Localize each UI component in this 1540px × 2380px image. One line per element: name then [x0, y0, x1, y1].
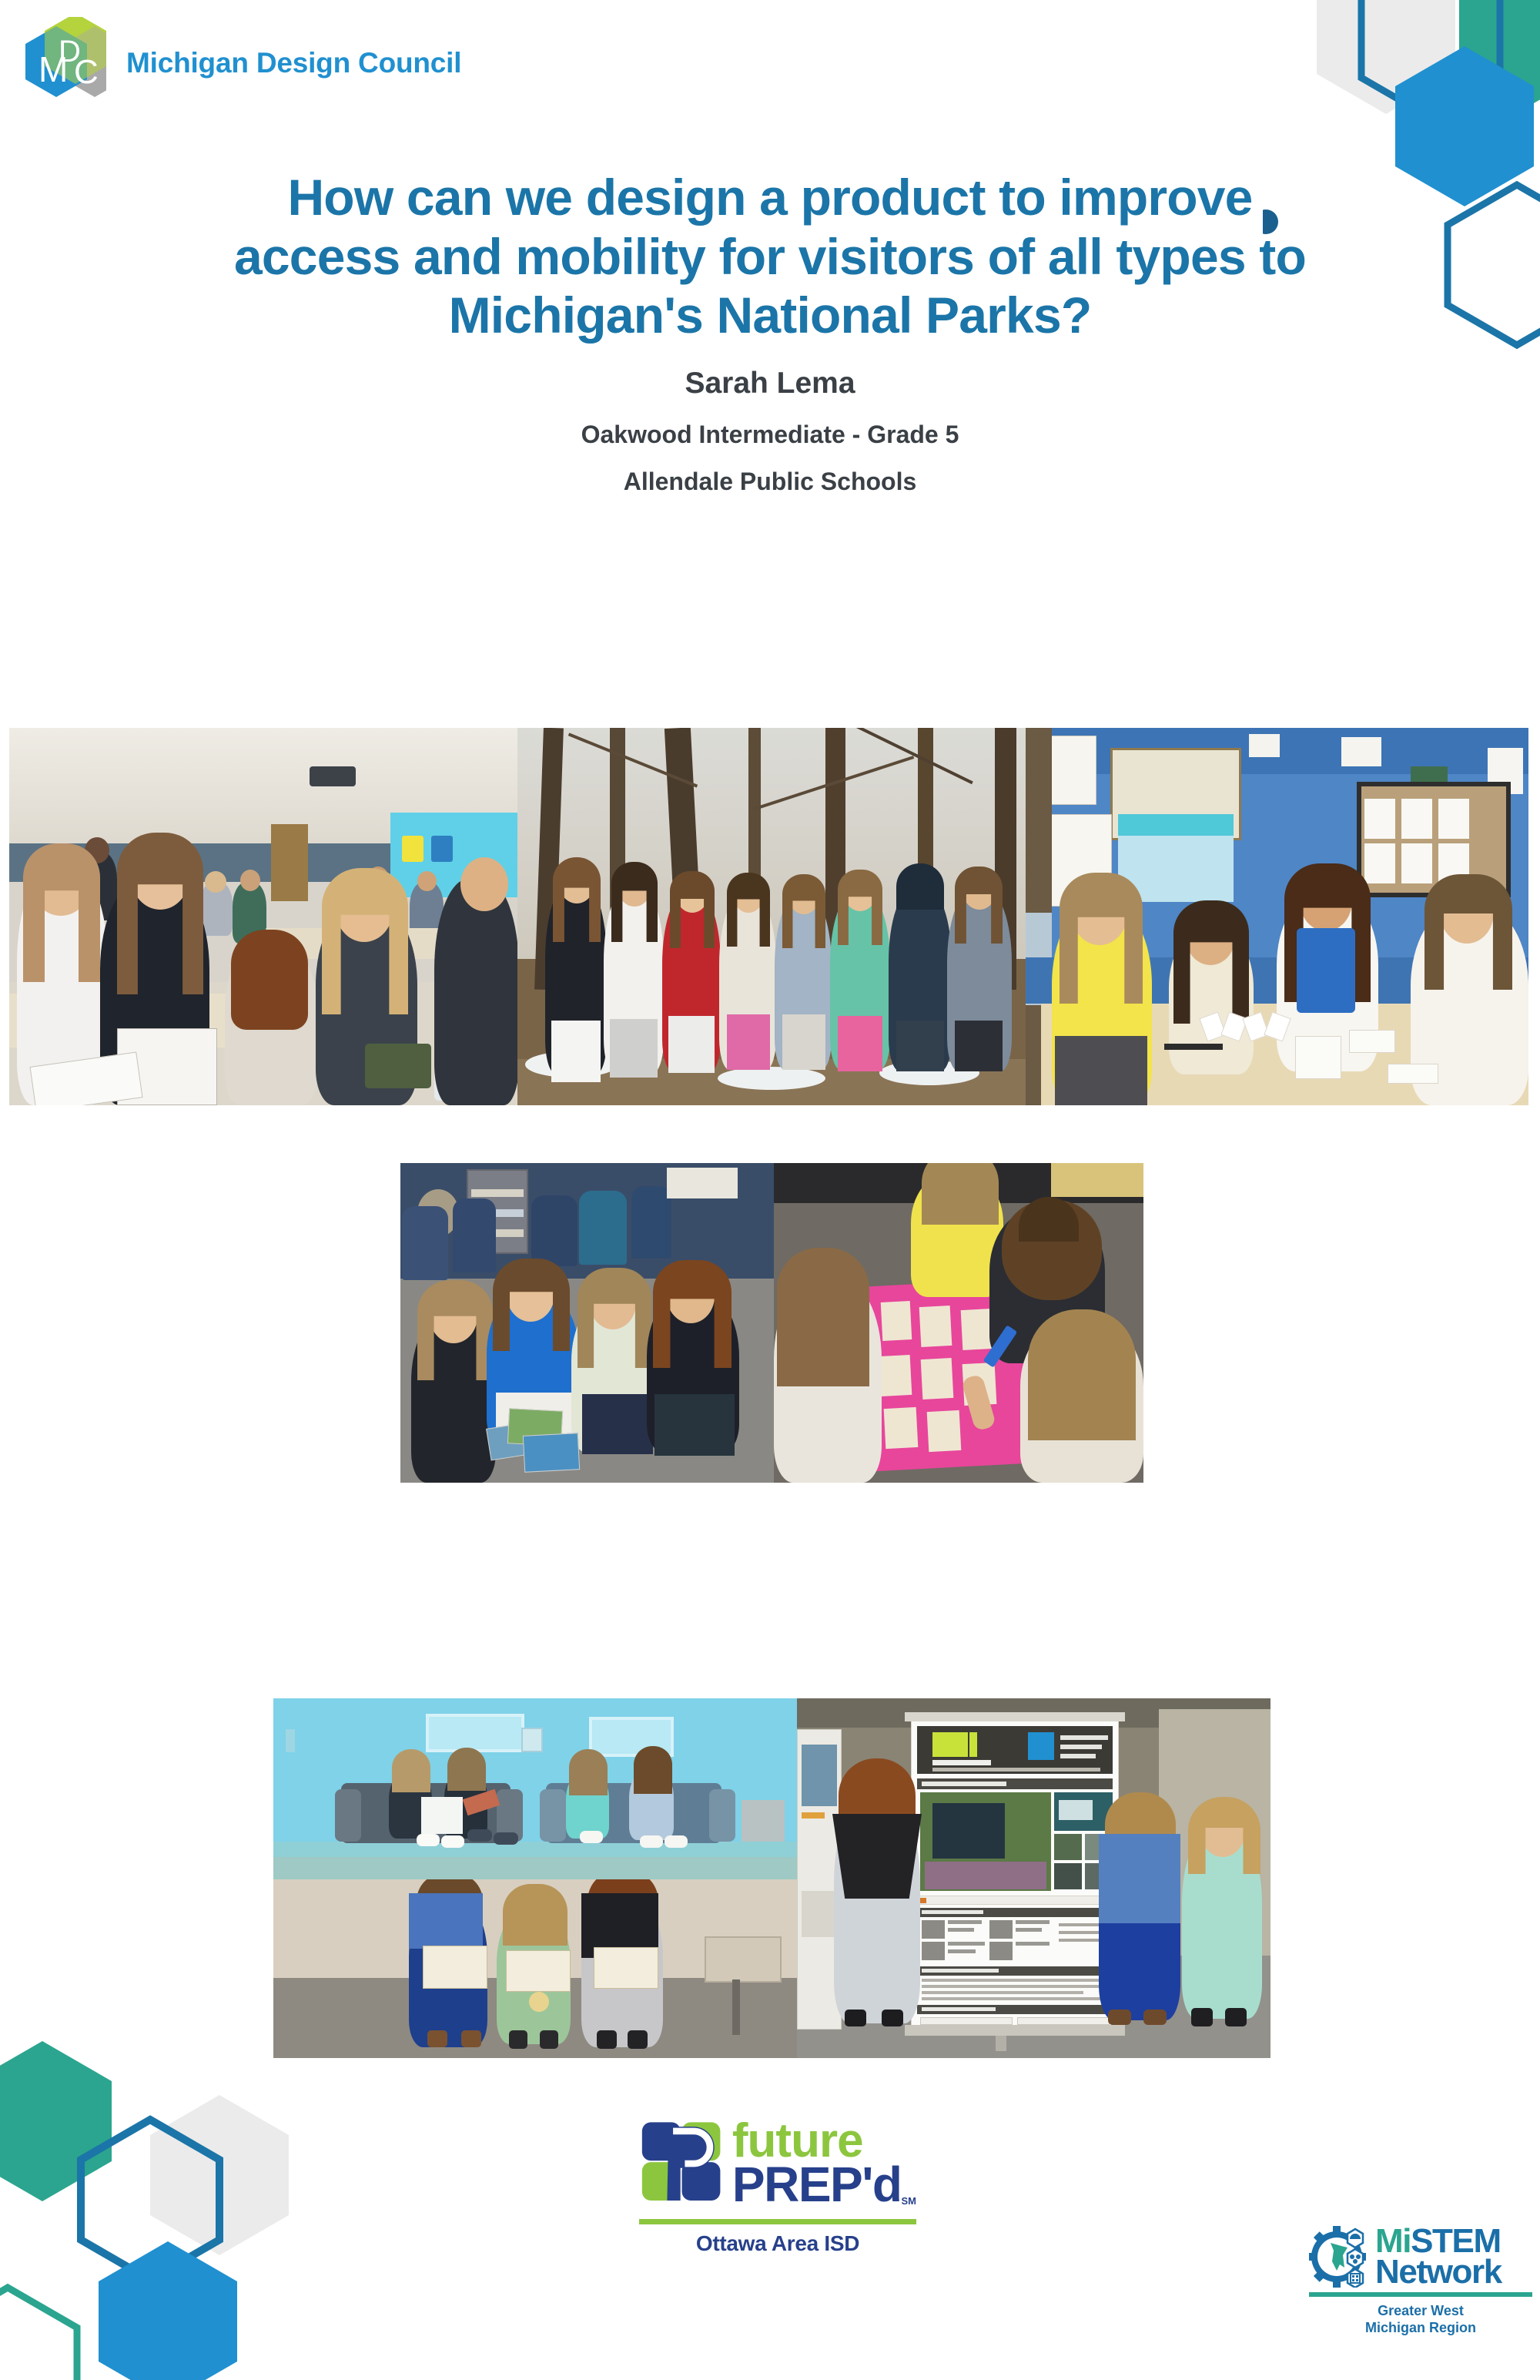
hexagon-teal — [1459, 0, 1540, 106]
photo-group-bottom — [273, 1698, 1270, 2058]
photo-row-top — [9, 728, 1528, 1105]
hexagon-outline-teal-bl — [0, 2288, 77, 2380]
futureprepd-subtitle: Ottawa Area ISD — [639, 2231, 916, 2256]
futureprepd-word-prepd: PREP'd — [732, 2163, 902, 2207]
mdc-hexagon-logo: M D C — [22, 17, 106, 109]
svg-text:C: C — [74, 53, 99, 91]
brand-header: M D C Michigan Design Council — [22, 17, 461, 109]
photo-classroom-prototyping — [1026, 728, 1528, 1105]
photo-finalists-with-poster — [797, 1698, 1270, 2058]
hexagon-cluster-bottom-left — [0, 2018, 308, 2380]
title-block: How can we design a product to improve a… — [0, 168, 1540, 496]
futureprepd-mark-icon — [639, 2114, 729, 2214]
futureprepd-logo: future PREP'd SM Ottawa Area ISD — [639, 2114, 916, 2268]
mistem-word-network: Network — [1375, 2257, 1501, 2288]
mistem-subtitle-line1: Greater West — [1309, 2302, 1532, 2320]
photo-classroom-activity — [9, 728, 517, 1105]
hexagon-outline-bl — [81, 2120, 219, 2280]
hexagon-gray-bl — [150, 2095, 289, 2255]
photo-award-stage — [273, 1879, 797, 2058]
hexagon-blue-bl — [99, 2241, 237, 2380]
photo-row-middle — [400, 1163, 1143, 1483]
hexagon-outline-upper — [1361, 0, 1500, 118]
district-name: Allendale Public Schools — [0, 468, 1540, 496]
mistem-gear-icon — [1309, 2226, 1372, 2288]
service-mark: SM — [902, 2195, 917, 2207]
student-name: Sarah Lema — [0, 367, 1540, 401]
photo-team-on-floor — [400, 1163, 774, 1483]
school-grade: Oakwood Intermediate - Grade 5 — [0, 421, 1540, 449]
hexagon-gray — [1317, 0, 1455, 114]
photo-forest-field-trip — [517, 728, 1026, 1105]
mdc-wordmark: Michigan Design Council — [126, 47, 461, 79]
mistem-logo: MiSTEM Network Greater West Michigan Reg… — [1309, 2226, 1532, 2349]
mistem-subtitle-line2: Michigan Region — [1309, 2319, 1532, 2337]
hexagon-teal-bl — [0, 2041, 112, 2201]
mistem-divider — [1309, 2292, 1532, 2297]
page-title: How can we design a product to improve a… — [0, 168, 1540, 345]
photo-projected-team-interview — [273, 1698, 797, 1879]
photo-pink-poster-planning — [774, 1163, 1143, 1483]
photo-column-left — [273, 1698, 797, 2058]
futureprepd-divider — [639, 2219, 916, 2224]
